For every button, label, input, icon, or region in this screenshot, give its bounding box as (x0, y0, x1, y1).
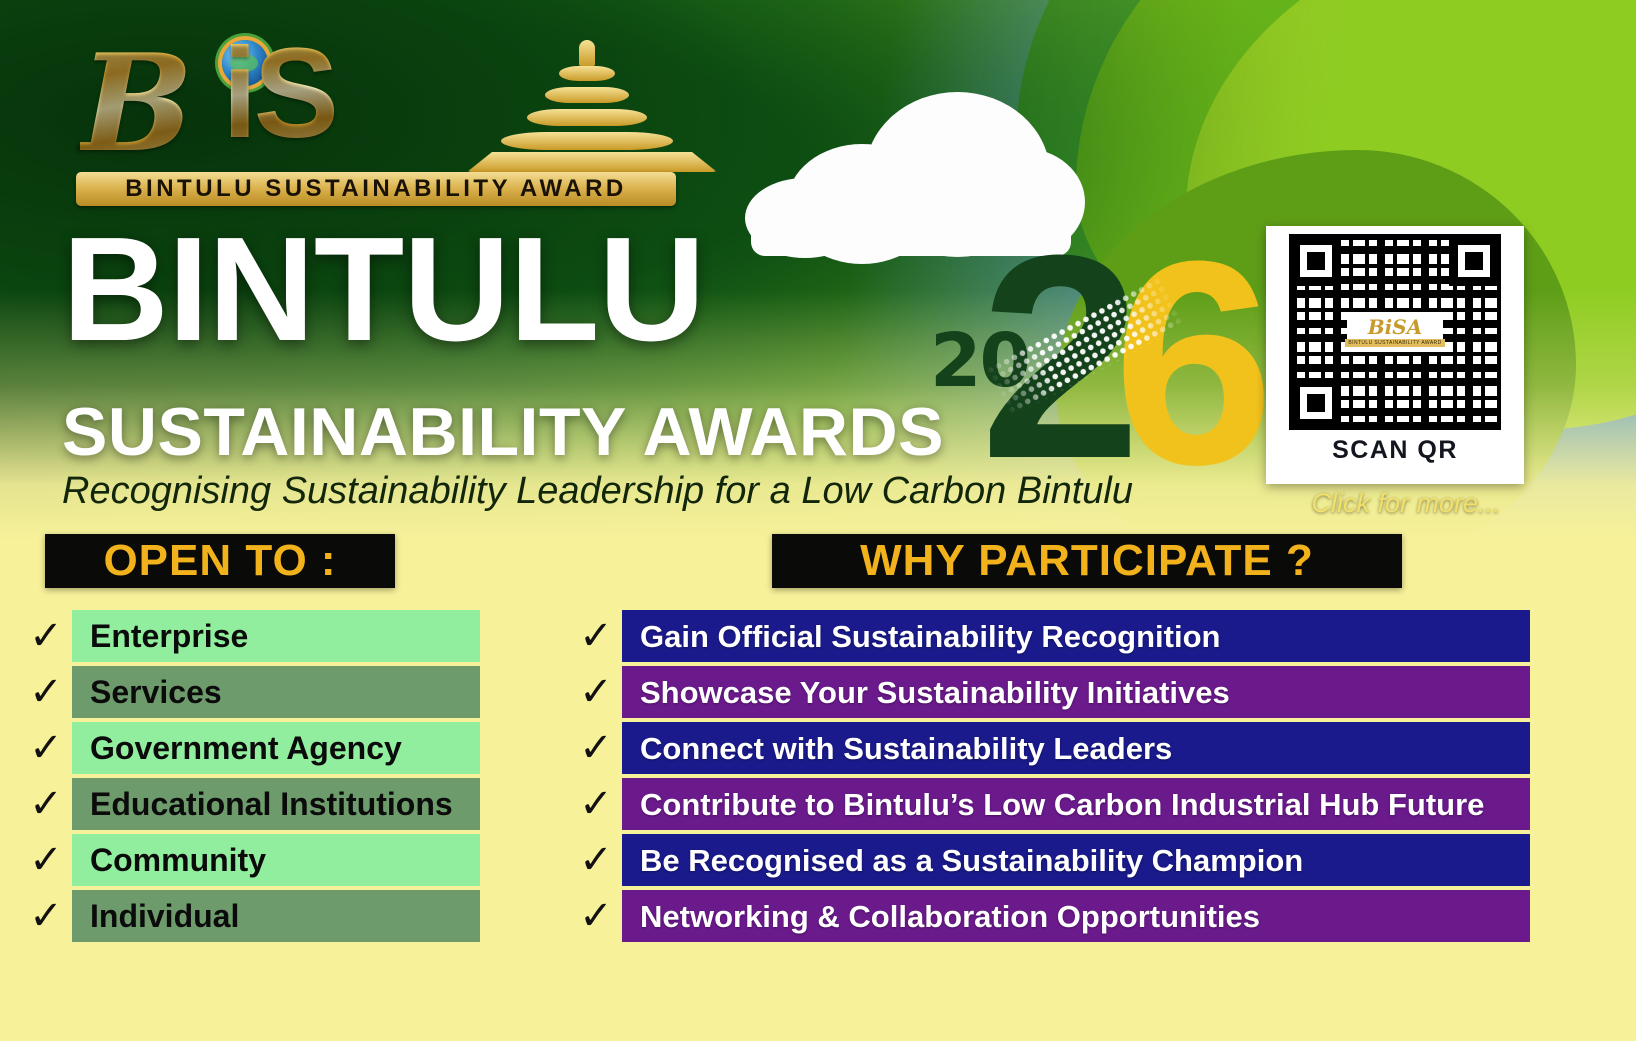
list-item-pill: Government Agency (72, 722, 480, 774)
list-item-pill: Educational Institutions (72, 778, 480, 830)
qr-finder-icon (1449, 236, 1499, 286)
open-to-heading: OPEN TO : (103, 536, 336, 586)
list-item-label: Gain Official Sustainability Recognition (640, 621, 1220, 652)
list-item[interactable]: ✓ Educational Institutions (20, 778, 480, 830)
list-item[interactable]: ✓ Contribute to Bintulu’s Low Carbon Ind… (570, 778, 1530, 830)
list-item-label: Services (90, 676, 222, 708)
bisa-logo-mark: B iS (72, 22, 682, 172)
check-icon: ✓ (570, 834, 622, 886)
list-item[interactable]: ✓ Gain Official Sustainability Recogniti… (570, 610, 1530, 662)
list-item-label: Showcase Your Sustainability Initiatives (640, 677, 1230, 708)
list-item-label: Government Agency (90, 732, 402, 764)
list-item-pill: Showcase Your Sustainability Initiatives (622, 666, 1530, 718)
logo-letter-b: B (80, 36, 193, 170)
list-item-label: Be Recognised as a Sustainability Champi… (640, 845, 1303, 876)
why-participate-banner: WHY PARTICIPATE ? (772, 534, 1402, 588)
check-icon: ✓ (20, 890, 72, 942)
pagoda-icon (467, 40, 727, 170)
page-title: BINTULU (62, 222, 704, 358)
list-item-label: Community (90, 844, 266, 876)
year-graphic: 2 6 20 (918, 240, 1218, 490)
open-to-banner: OPEN TO : (45, 534, 395, 588)
open-to-list: ✓ Enterprise ✓ Services ✓ Government Age… (20, 610, 480, 946)
list-item-pill: Services (72, 666, 480, 718)
list-item[interactable]: ✓ Be Recognised as a Sustainability Cham… (570, 834, 1530, 886)
why-participate-list: ✓ Gain Official Sustainability Recogniti… (570, 610, 1530, 946)
list-item[interactable]: ✓ Enterprise (20, 610, 480, 662)
list-item[interactable]: ✓ Services (20, 666, 480, 718)
list-item-label: Individual (90, 900, 239, 932)
list-item-label: Educational Institutions (90, 788, 453, 820)
check-icon: ✓ (570, 722, 622, 774)
list-item[interactable]: ✓ Government Agency (20, 722, 480, 774)
qr-logo-badge: BINTULU SUSTAINABILITY AWARD (1345, 339, 1444, 347)
bisa-logo: B iS BINTULU SUSTAINABILITY AWARD (72, 22, 682, 212)
check-icon: ✓ (20, 666, 72, 718)
check-icon: ✓ (570, 778, 622, 830)
qr-logo-mark: BiSA (1368, 317, 1422, 337)
list-item-pill: Individual (72, 890, 480, 942)
list-item-pill: Connect with Sustainability Leaders (622, 722, 1530, 774)
list-item-label: Networking & Collaboration Opportunities (640, 901, 1260, 932)
qr-finder-icon (1291, 378, 1341, 428)
logo-letters-is: iS (222, 30, 335, 158)
list-item[interactable]: ✓ Connect with Sustainability Leaders (570, 722, 1530, 774)
list-item-pill: Community (72, 834, 480, 886)
qr-caption: SCAN QR (1332, 436, 1458, 465)
check-icon: ✓ (20, 778, 72, 830)
qr-card[interactable]: BiSA BINTULU SUSTAINABILITY AWARD SCAN Q… (1266, 226, 1524, 484)
check-icon: ✓ (20, 610, 72, 662)
list-item[interactable]: ✓ Individual (20, 890, 480, 942)
list-item-label: Enterprise (90, 620, 248, 652)
list-item[interactable]: ✓ Community (20, 834, 480, 886)
list-item-pill: Gain Official Sustainability Recognition (622, 610, 1530, 662)
qr-code-icon[interactable]: BiSA BINTULU SUSTAINABILITY AWARD (1289, 234, 1501, 430)
check-icon: ✓ (20, 722, 72, 774)
list-item-pill: Networking & Collaboration Opportunities (622, 890, 1530, 942)
qr-finder-icon (1291, 236, 1341, 286)
check-icon: ✓ (570, 610, 622, 662)
list-item-label: Connect with Sustainability Leaders (640, 733, 1172, 764)
year-digit-six: 6 (1113, 218, 1274, 508)
list-item-label: Contribute to Bintulu’s Low Carbon Indus… (640, 789, 1484, 820)
qr-embedded-logo: BiSA BINTULU SUSTAINABILITY AWARD (1347, 312, 1443, 352)
list-item-pill: Enterprise (72, 610, 480, 662)
logo-badge-text: BINTULU SUSTAINABILITY AWARD (125, 175, 627, 203)
click-for-more-link[interactable]: Click for more... (1296, 488, 1516, 519)
poster: B iS BINTULU SUSTAINABILITY AWARD BINTUL… (0, 0, 1636, 1041)
list-item-pill: Contribute to Bintulu’s Low Carbon Indus… (622, 778, 1530, 830)
page-subtitle: SUSTAINABILITY AWARDS (62, 398, 944, 466)
list-item[interactable]: ✓ Showcase Your Sustainability Initiativ… (570, 666, 1530, 718)
check-icon: ✓ (570, 666, 622, 718)
list-item[interactable]: ✓ Networking & Collaboration Opportuniti… (570, 890, 1530, 942)
check-icon: ✓ (570, 890, 622, 942)
why-participate-heading: WHY PARTICIPATE ? (860, 536, 1314, 586)
list-item-pill: Be Recognised as a Sustainability Champi… (622, 834, 1530, 886)
logo-badge: BINTULU SUSTAINABILITY AWARD (76, 172, 676, 206)
check-icon: ✓ (20, 834, 72, 886)
